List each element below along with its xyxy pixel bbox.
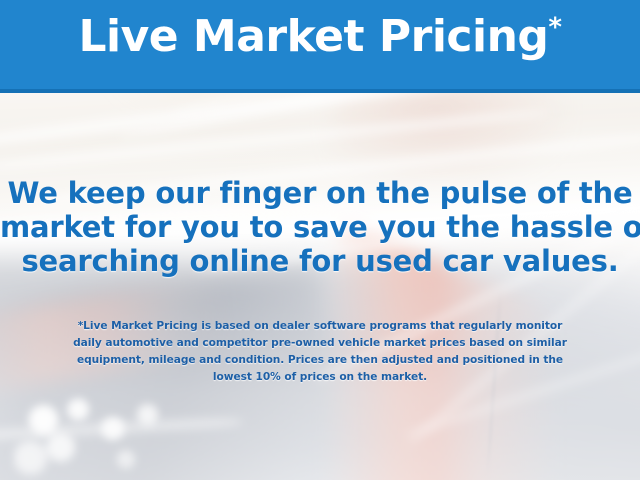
- headline-line-1: We keep our finger on the pulse of the: [0, 176, 640, 210]
- header-banner: Live Market Pricing*: [0, 0, 640, 93]
- live-market-pricing-slide: Live Market Pricing* We keep our finger …: [0, 0, 640, 480]
- disclaimer: *Live Market Pricing is based on dealer …: [22, 318, 618, 386]
- disclaimer-line-3: equipment, mileage and condition. Prices…: [22, 352, 618, 369]
- headline: We keep our finger on the pulse of the m…: [0, 176, 640, 278]
- disclaimer-line-1: *Live Market Pricing is based on dealer …: [22, 318, 618, 335]
- page-title-asterisk: *: [548, 12, 561, 42]
- headline-line-2: market for you to save you the hassle of: [0, 210, 640, 244]
- page-title: Live Market Pricing*: [0, 14, 640, 60]
- headline-line-3: searching online for used car values.: [0, 244, 640, 278]
- disclaimer-line-2: daily automotive and competitor pre-owne…: [22, 335, 618, 352]
- page-title-text: Live Market Pricing: [78, 11, 548, 62]
- disclaimer-line-4: lowest 10% of prices on the market.: [22, 369, 618, 386]
